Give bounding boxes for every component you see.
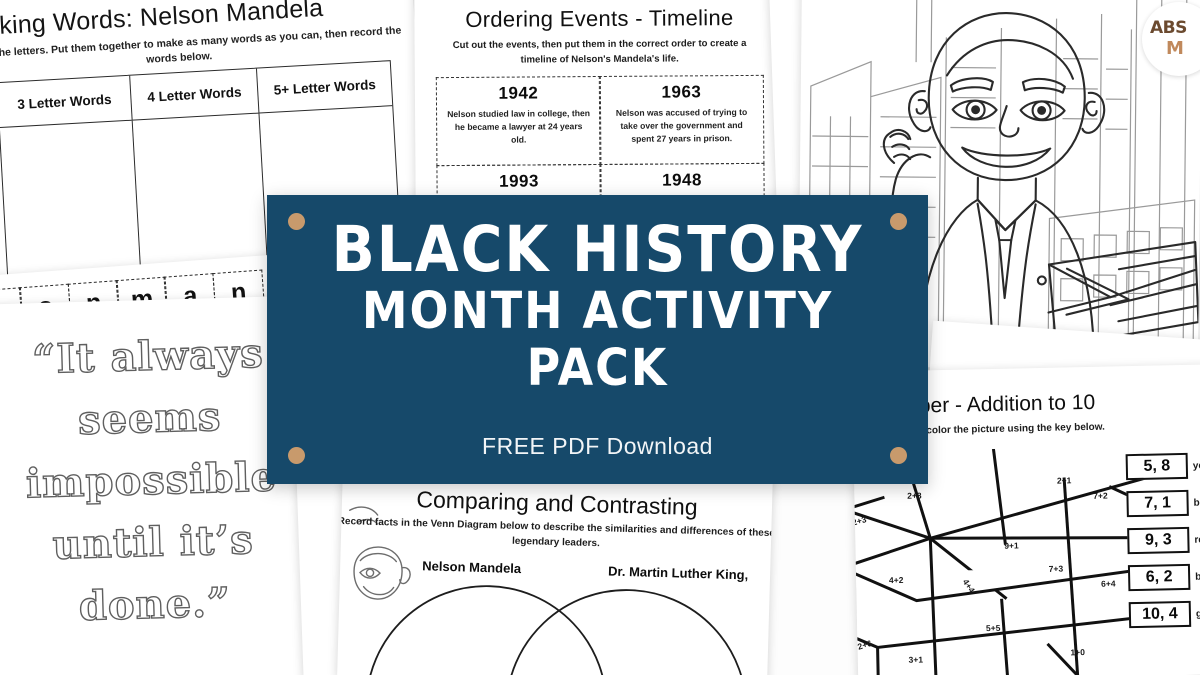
- color-key-row: 7, 1 bl: [1126, 489, 1200, 517]
- event-year: 1993: [447, 171, 592, 192]
- svg-text:9+1: 9+1: [1004, 540, 1019, 550]
- timeline-title: Ordering Events - Timeline: [414, 5, 784, 34]
- svg-text:5+5: 5+5: [986, 623, 1001, 633]
- key-color-label: g: [1196, 608, 1200, 619]
- key-numbers: 9, 3: [1127, 527, 1190, 554]
- quote-line: until it’s: [0, 507, 324, 578]
- color-key-legend: 5, 8 ye 7, 1 bl 9, 3 re 6, 2 bl 10, 4 g: [1126, 452, 1200, 639]
- timeline-event-card: 1942 Nelson studied law in college, then…: [436, 76, 601, 166]
- svg-text:4+2: 4+2: [889, 575, 904, 585]
- key-numbers: 5, 8: [1126, 453, 1189, 480]
- svg-text:7+2: 7+2: [1093, 491, 1108, 501]
- banner-title-line-1: BLACK HISTORY: [267, 219, 928, 281]
- event-year: 1963: [609, 82, 754, 103]
- svg-text:6+4: 6+4: [1101, 578, 1116, 588]
- venn-left-label: Nelson Mandela: [422, 558, 521, 576]
- svg-text:7+3: 7+3: [1049, 564, 1064, 574]
- svg-text:1+0: 1+0: [1070, 647, 1085, 657]
- key-numbers: 10, 4: [1129, 601, 1192, 628]
- logo-line-2: M: [1166, 38, 1183, 59]
- event-text: Nelson studied law in college, then he b…: [446, 107, 591, 147]
- svg-text:2+1: 2+1: [1057, 475, 1072, 485]
- title-banner: BLACK HISTORY MONTH ACTIVITY PACK FREE P…: [267, 195, 928, 484]
- color-key-row: 10, 4 g: [1129, 600, 1200, 628]
- column-header: 4 Letter Words: [130, 69, 259, 121]
- event-year: 1948: [610, 170, 755, 191]
- logo-line-1: ABS: [1150, 18, 1187, 38]
- worksheet-comparing-and-contrasting: Comparing and Contrasting Record facts i…: [337, 462, 773, 675]
- event-year: 1942: [446, 83, 591, 104]
- color-key-row: 9, 3 re: [1127, 526, 1200, 554]
- column-header: 5+ Letter Words: [257, 61, 392, 113]
- color-key-row: 5, 8 ye: [1126, 452, 1200, 480]
- activity-pack-collage: Making Words: Nelson Mandela Cut out the…: [0, 0, 1200, 675]
- svg-text:2+8: 2+8: [907, 490, 922, 500]
- column-header: 3 Letter Words: [0, 76, 131, 128]
- key-numbers: 6, 2: [1128, 564, 1191, 591]
- timeline-instructions: Cut out the events, then put them in the…: [443, 37, 757, 68]
- key-numbers: 7, 1: [1126, 490, 1189, 517]
- svg-text:3+1: 3+1: [909, 654, 924, 664]
- svg-text:2+3: 2+3: [852, 514, 868, 528]
- key-color-label: bl: [1195, 571, 1200, 582]
- key-color-label: ye: [1193, 460, 1200, 471]
- event-text: Nelson was accused of trying to take ove…: [609, 106, 754, 146]
- quote-line: done.”: [0, 569, 326, 640]
- banner-title-line-2: MONTH ACTIVITY: [267, 285, 928, 339]
- banner-subtitle: FREE PDF Download: [267, 433, 928, 460]
- color-key-row: 6, 2 bl: [1128, 563, 1200, 591]
- key-color-label: re: [1194, 534, 1200, 545]
- banner-title-line-3: PACK: [267, 342, 928, 396]
- timeline-event-card: 1963 Nelson was accused of trying to tak…: [599, 75, 764, 165]
- key-color-label: bl: [1193, 497, 1200, 508]
